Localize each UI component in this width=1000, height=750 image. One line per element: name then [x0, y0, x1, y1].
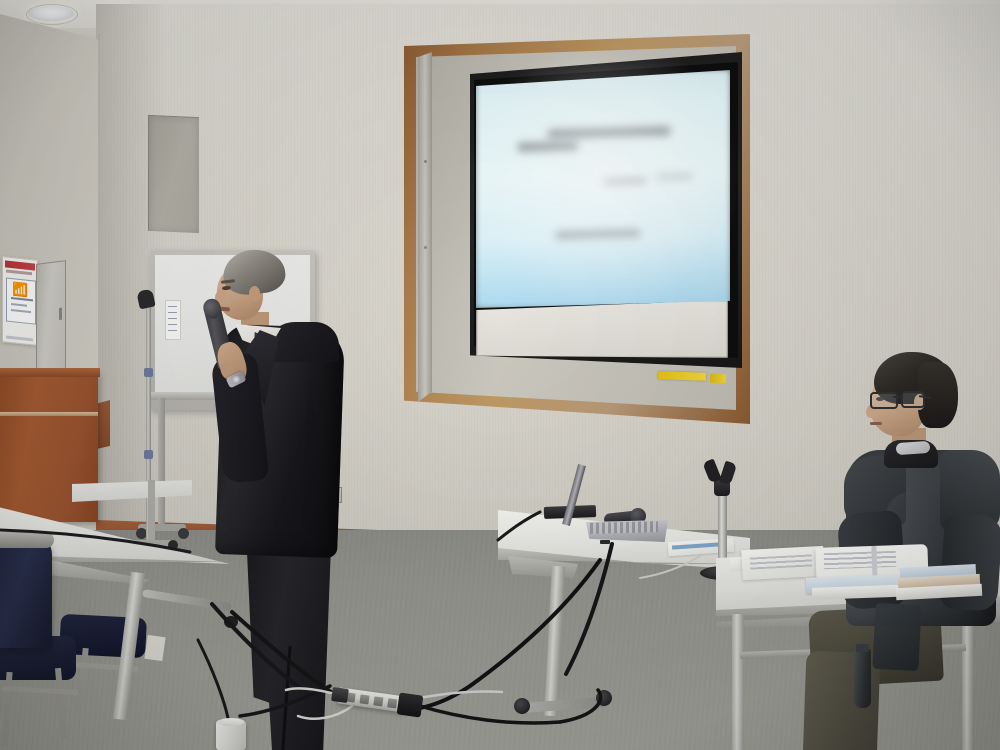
photo-vignette	[0, 0, 1000, 750]
photo-scene: 📶	[0, 0, 1000, 750]
